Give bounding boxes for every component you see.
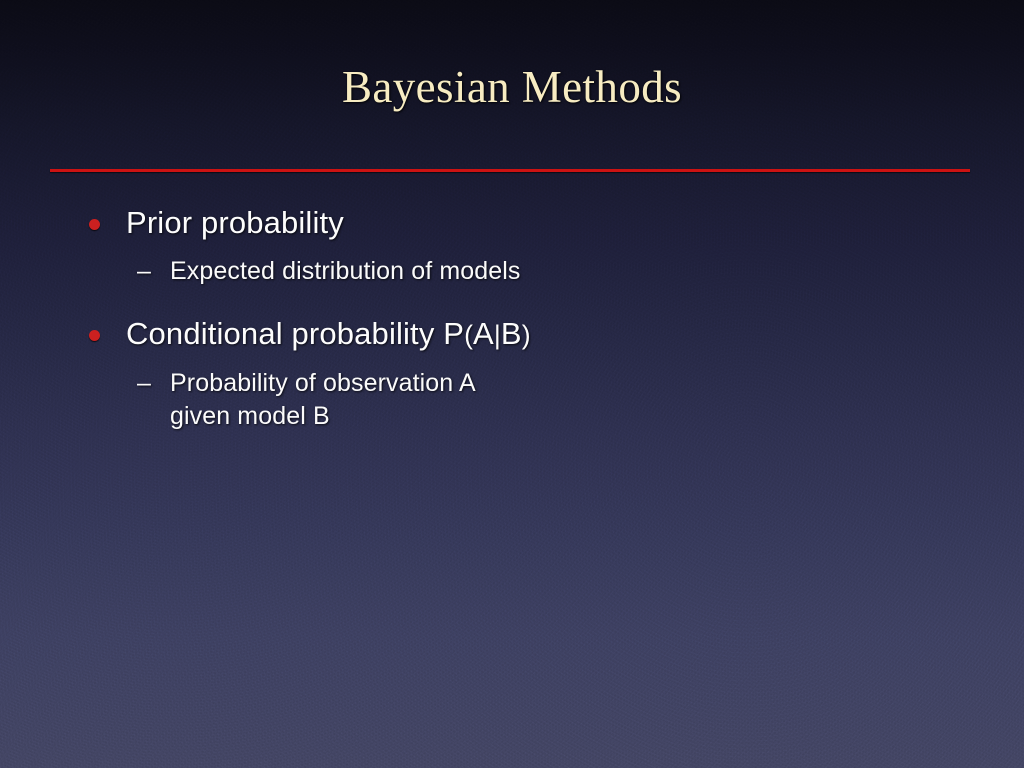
bullet-level2-line-continued: given model B	[170, 400, 1024, 433]
title-divider-rule	[50, 169, 970, 172]
notation-event-b: B	[501, 316, 522, 351]
round-bullet-icon	[89, 330, 100, 341]
round-bullet-icon	[89, 219, 100, 230]
conditional-probability-notation: P(A|B)	[443, 316, 530, 351]
spacer	[0, 245, 1024, 255]
bullet-level2-line: Probability of observation A	[170, 367, 1024, 400]
en-dash-marker-icon: –	[137, 255, 151, 288]
presentation-slide: Bayesian Methods Prior probability – Exp…	[0, 0, 1024, 768]
slide-title: Bayesian Methods	[0, 64, 1024, 111]
bullet-level1-label: Conditional probability	[126, 316, 443, 351]
notation-p: P	[443, 316, 464, 351]
bullet-level2-line: Expected distribution of models	[170, 255, 1024, 288]
spacer	[0, 357, 1024, 367]
notation-event-a: A	[473, 316, 494, 351]
notation-close-paren: )	[522, 320, 531, 350]
notation-pipe: |	[494, 320, 501, 350]
slide-content-layer: Bayesian Methods Prior probability – Exp…	[0, 0, 1024, 768]
bullet-level2-expected-distribution: – Expected distribution of models	[0, 255, 1024, 288]
slide-body-list: Prior probability – Expected distributio…	[0, 203, 1024, 433]
spacer	[0, 288, 1024, 314]
bullet-level1-label: Prior probability	[126, 205, 344, 240]
en-dash-marker-icon: –	[137, 367, 151, 400]
notation-open-paren: (	[464, 320, 473, 350]
bullet-level1-prior-probability: Prior probability	[0, 203, 1024, 243]
bullet-level2-probability-of-observation: – Probability of observation A given mod…	[0, 367, 1024, 433]
bullet-level1-conditional-probability: Conditional probability P(A|B)	[0, 314, 1024, 355]
